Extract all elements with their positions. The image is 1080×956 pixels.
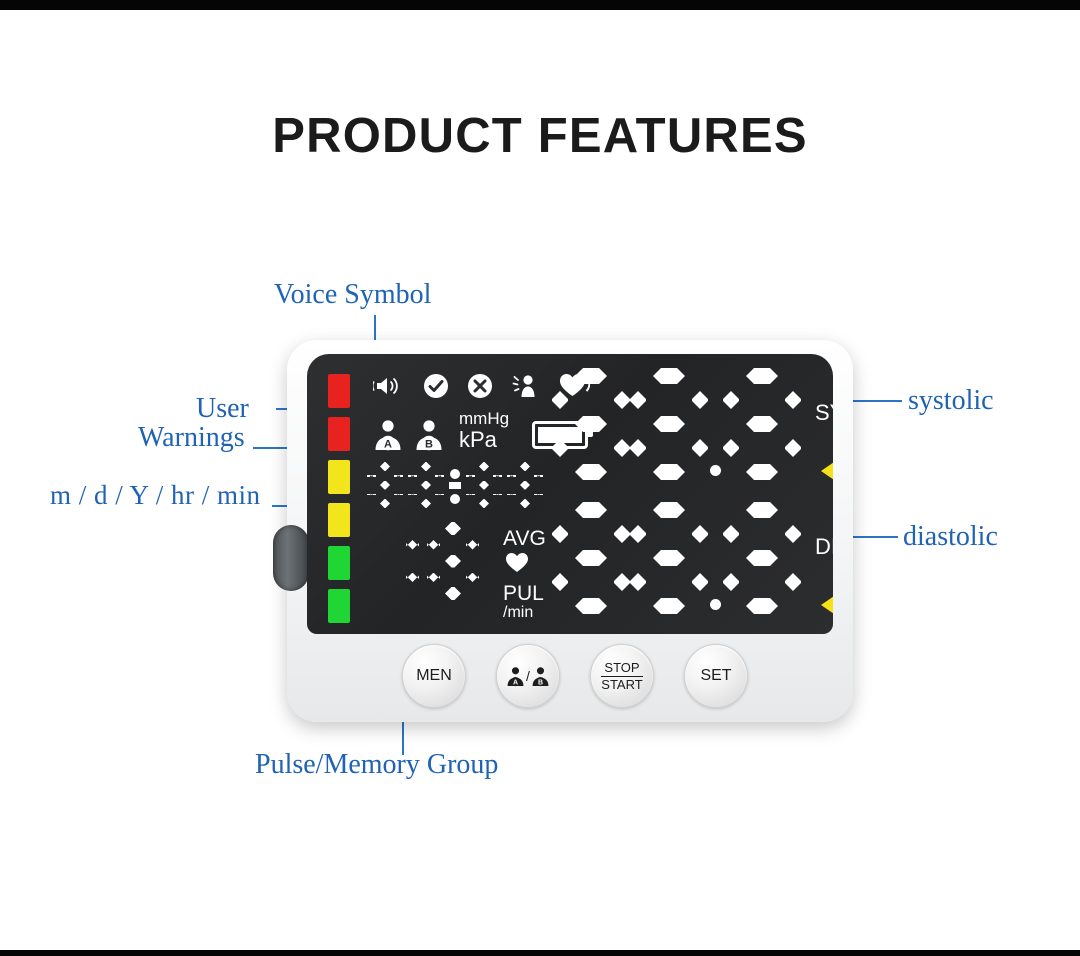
time-digit-3 <box>466 462 502 508</box>
callout-pulse-memory-group: Pulse/Memory Group <box>255 749 498 781</box>
callout-voice-symbol: Voice Symbol <box>274 279 431 311</box>
svg-text:B: B <box>538 679 543 686</box>
callout-systolic: systolic <box>908 385 994 417</box>
sys-digit-1 <box>552 368 630 480</box>
user-select-button-label: A / B <box>506 666 550 687</box>
pulse-digit-1 <box>367 522 419 600</box>
lcd-screen: A B mmHg kPa <box>307 354 833 634</box>
air-port-knob <box>273 525 309 591</box>
sys-digit-3 <box>723 368 801 480</box>
user-b-icon: B <box>414 419 444 451</box>
time-colon <box>449 462 461 508</box>
systolic-display: SYS <box>552 368 833 482</box>
pulse-digit-2 <box>427 522 479 600</box>
sys-decimal-point <box>710 465 721 476</box>
unit-mmhg: mmHg <box>459 410 509 427</box>
datetime-display <box>367 462 543 508</box>
bar-yellow-1 <box>328 460 350 494</box>
sys-left-triangle-icon <box>821 460 833 482</box>
bar-green-1 <box>328 546 350 580</box>
body-movement-icon <box>511 373 541 399</box>
stop-start-button-label: STOP START <box>601 661 642 691</box>
dia-decimal-point <box>710 599 721 610</box>
dia-digit-1 <box>552 502 630 614</box>
diastolic-display: DIA <box>552 502 833 616</box>
user-b-letter: B <box>425 438 433 450</box>
pulse-labels: AVG PUL /min <box>503 528 546 622</box>
user-b-small-icon: B <box>531 666 550 687</box>
dia-digit-3 <box>723 502 801 614</box>
memory-button[interactable]: MEN <box>402 644 466 708</box>
user-a-small-icon: A <box>506 666 525 687</box>
sys-side-labels: SYS <box>815 368 833 482</box>
sys-label: SYS <box>815 400 833 426</box>
bar-green-2 <box>328 589 350 623</box>
start-label: START <box>601 677 642 692</box>
dia-digit-2 <box>630 502 708 614</box>
top-black-bar <box>0 0 1080 10</box>
avg-label: AVG <box>503 528 546 550</box>
time-digit-1 <box>367 462 403 508</box>
button-row: MEN A / B STOP <box>287 638 853 722</box>
callout-diastolic: diastolic <box>903 521 998 553</box>
user-select-button[interactable]: A / B <box>496 644 560 708</box>
time-digit-2 <box>408 462 444 508</box>
sys-digit-2 <box>630 368 708 480</box>
stop-label: STOP <box>601 661 642 677</box>
bar-red-1 <box>328 374 350 408</box>
set-button[interactable]: SET <box>684 644 748 708</box>
callout-warnings: Warnings <box>138 422 245 454</box>
unit-labels: mmHg kPa <box>459 410 509 451</box>
unit-kpa: kPa <box>459 429 509 451</box>
user-a-icon: A <box>373 419 403 451</box>
pulse-memory-display: AVG PUL /min <box>367 522 546 622</box>
dia-left-triangle-icon <box>821 594 833 616</box>
pul-label: PUL <box>503 583 546 605</box>
callout-datetime: m / d / Y / hr / min <box>50 480 261 511</box>
x-circle-icon <box>467 373 493 399</box>
bottom-black-bar <box>0 950 1080 956</box>
check-circle-icon <box>423 373 449 399</box>
slash-separator: / <box>526 668 530 684</box>
callout-user: User <box>196 393 249 425</box>
set-button-label: SET <box>700 667 731 685</box>
blood-pressure-monitor: A B mmHg kPa <box>287 340 853 722</box>
heart-icon <box>505 552 546 577</box>
memory-button-label: MEN <box>416 667 452 685</box>
svg-text:A: A <box>513 679 518 686</box>
stop-start-button[interactable]: STOP START <box>590 644 654 708</box>
time-digit-4 <box>507 462 543 508</box>
bar-red-2 <box>328 417 350 451</box>
user-a-letter: A <box>384 438 392 450</box>
per-min-label: /min <box>503 605 546 622</box>
voice-speaker-icon <box>373 373 405 399</box>
dia-side-labels: DIA <box>815 502 833 616</box>
dia-label: DIA <box>815 534 833 560</box>
bar-yellow-2 <box>328 503 350 537</box>
bp-level-bar-group <box>328 374 352 632</box>
page-title: PRODUCT FEATURES <box>0 108 1080 164</box>
